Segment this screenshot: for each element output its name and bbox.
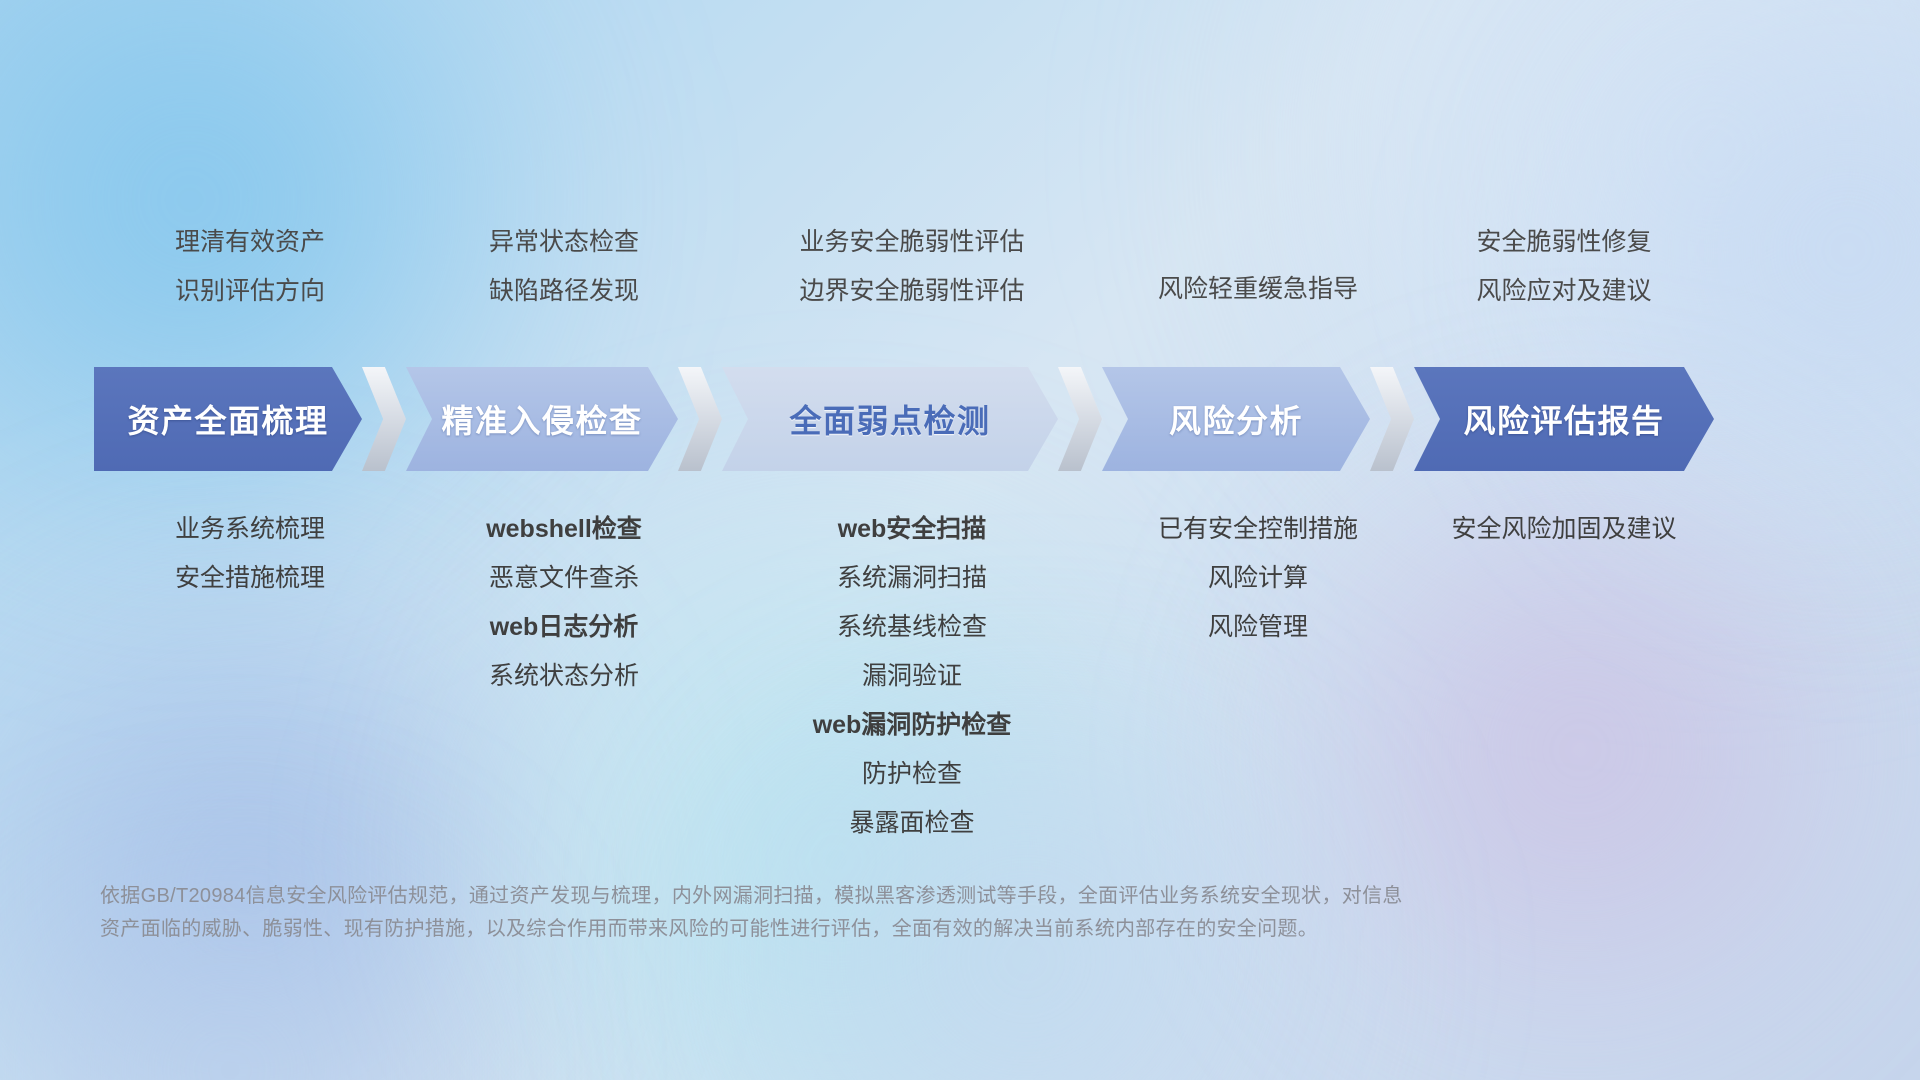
list-item: 缺陷路径发现 xyxy=(489,267,639,316)
footer-line-1: 依据GB/T20984信息安全风险评估规范，通过资产发现与梳理，内外网漏洞扫描，… xyxy=(100,880,1610,913)
list-item: web安全扫描 xyxy=(838,505,987,554)
process-stage-1[interactable]: 资产全面梳理 xyxy=(94,367,362,471)
stage-4-activities: 已有安全控制措施风险计算风险管理 xyxy=(1102,505,1414,865)
list-item: 安全措施梳理 xyxy=(175,554,325,603)
list-item: webshell检查 xyxy=(486,505,642,554)
list-item: 理清有效资产 xyxy=(175,218,325,267)
stage-separator-chevron-icon xyxy=(1058,367,1102,471)
band-left-spacer xyxy=(0,367,94,471)
bottom-labels-row: 业务系统梳理安全措施梳理webshell检查恶意文件查杀web日志分析系统状态分… xyxy=(0,505,1920,865)
list-item: 安全风险加固及建议 xyxy=(1451,505,1676,554)
stage-3-inputs: 业务安全脆弱性评估边界安全脆弱性评估 xyxy=(722,218,1102,328)
list-item: 业务安全脆弱性评估 xyxy=(799,218,1024,267)
list-item: web漏洞防护检查 xyxy=(813,701,1012,750)
stage-title: 资产全面梳理 xyxy=(127,396,328,442)
chevron-right-icon xyxy=(678,367,722,471)
stage-separator-chevron-icon xyxy=(678,367,722,471)
stage-2-inputs: 异常状态检查缺陷路径发现 xyxy=(406,218,722,328)
stage-3-activities: web安全扫描系统漏洞扫描系统基线检查漏洞验证web漏洞防护检查防护检查暴露面检… xyxy=(722,505,1102,865)
list-item: web日志分析 xyxy=(490,603,639,652)
list-item: 系统状态分析 xyxy=(489,652,639,701)
chevron-right-icon xyxy=(1370,367,1414,471)
list-item: 风险管理 xyxy=(1208,603,1308,652)
infographic-content: 理清有效资产识别评估方向异常状态检查缺陷路径发现业务安全脆弱性评估边界安全脆弱性… xyxy=(0,0,1920,1080)
stage-1-activities: 业务系统梳理安全措施梳理 xyxy=(94,505,406,865)
list-item: 安全脆弱性修复 xyxy=(1476,218,1651,267)
stage-5-inputs: 安全脆弱性修复风险应对及建议 xyxy=(1414,218,1714,328)
list-item: 暴露面检查 xyxy=(849,799,974,848)
process-arrow-band: 资产全面梳理精准入侵检查全面弱点检测风险分析风险评估报告 xyxy=(0,367,1920,471)
list-item: 风险轻重缓急指导 xyxy=(1158,265,1358,314)
process-stage-2[interactable]: 精准入侵检查 xyxy=(406,367,678,471)
list-item: 风险计算 xyxy=(1208,554,1308,603)
list-item: 防护检查 xyxy=(862,750,962,799)
stage-4-inputs: 风险轻重缓急指导 xyxy=(1102,218,1414,328)
process-stage-5[interactable]: 风险评估报告 xyxy=(1414,367,1714,471)
list-item: 已有安全控制措施 xyxy=(1158,505,1358,554)
list-item: 边界安全脆弱性评估 xyxy=(799,267,1024,316)
list-item: 识别评估方向 xyxy=(175,267,325,316)
stage-2-activities: webshell检查恶意文件查杀web日志分析系统状态分析 xyxy=(406,505,722,865)
stage-title: 精准入侵检查 xyxy=(441,396,642,442)
list-item: 系统基线检查 xyxy=(837,603,987,652)
footer-line-2: 资产面临的威胁、脆弱性、现有防护措施，以及综合作用而带来风险的可能性进行评估，全… xyxy=(100,913,1610,946)
top-labels-row: 理清有效资产识别评估方向异常状态检查缺陷路径发现业务安全脆弱性评估边界安全脆弱性… xyxy=(0,218,1920,328)
list-item: 恶意文件查杀 xyxy=(489,554,639,603)
toprow-left-spacer xyxy=(0,218,94,328)
stage-title: 风险分析 xyxy=(1169,396,1303,442)
footer-description: 依据GB/T20984信息安全风险评估规范，通过资产发现与梳理，内外网漏洞扫描，… xyxy=(100,880,1610,946)
stage-separator-chevron-icon xyxy=(1370,367,1414,471)
list-item: 异常状态检查 xyxy=(489,218,639,267)
chevron-right-icon xyxy=(362,367,406,471)
process-stage-4[interactable]: 风险分析 xyxy=(1102,367,1370,471)
list-item: 业务系统梳理 xyxy=(175,505,325,554)
stage-title: 风险评估报告 xyxy=(1463,396,1664,442)
stage-title: 全面弱点检测 xyxy=(789,396,990,442)
process-stage-3[interactable]: 全面弱点检测 xyxy=(722,367,1058,471)
list-item: 风险应对及建议 xyxy=(1476,267,1651,316)
list-item: 系统漏洞扫描 xyxy=(837,554,987,603)
stage-5-activities: 安全风险加固及建议 xyxy=(1414,505,1714,865)
list-item: 漏洞验证 xyxy=(862,652,962,701)
chevron-right-icon xyxy=(1058,367,1102,471)
stage-1-inputs: 理清有效资产识别评估方向 xyxy=(94,218,406,328)
stage-separator-chevron-icon xyxy=(362,367,406,471)
botrow-left-spacer xyxy=(0,505,94,865)
